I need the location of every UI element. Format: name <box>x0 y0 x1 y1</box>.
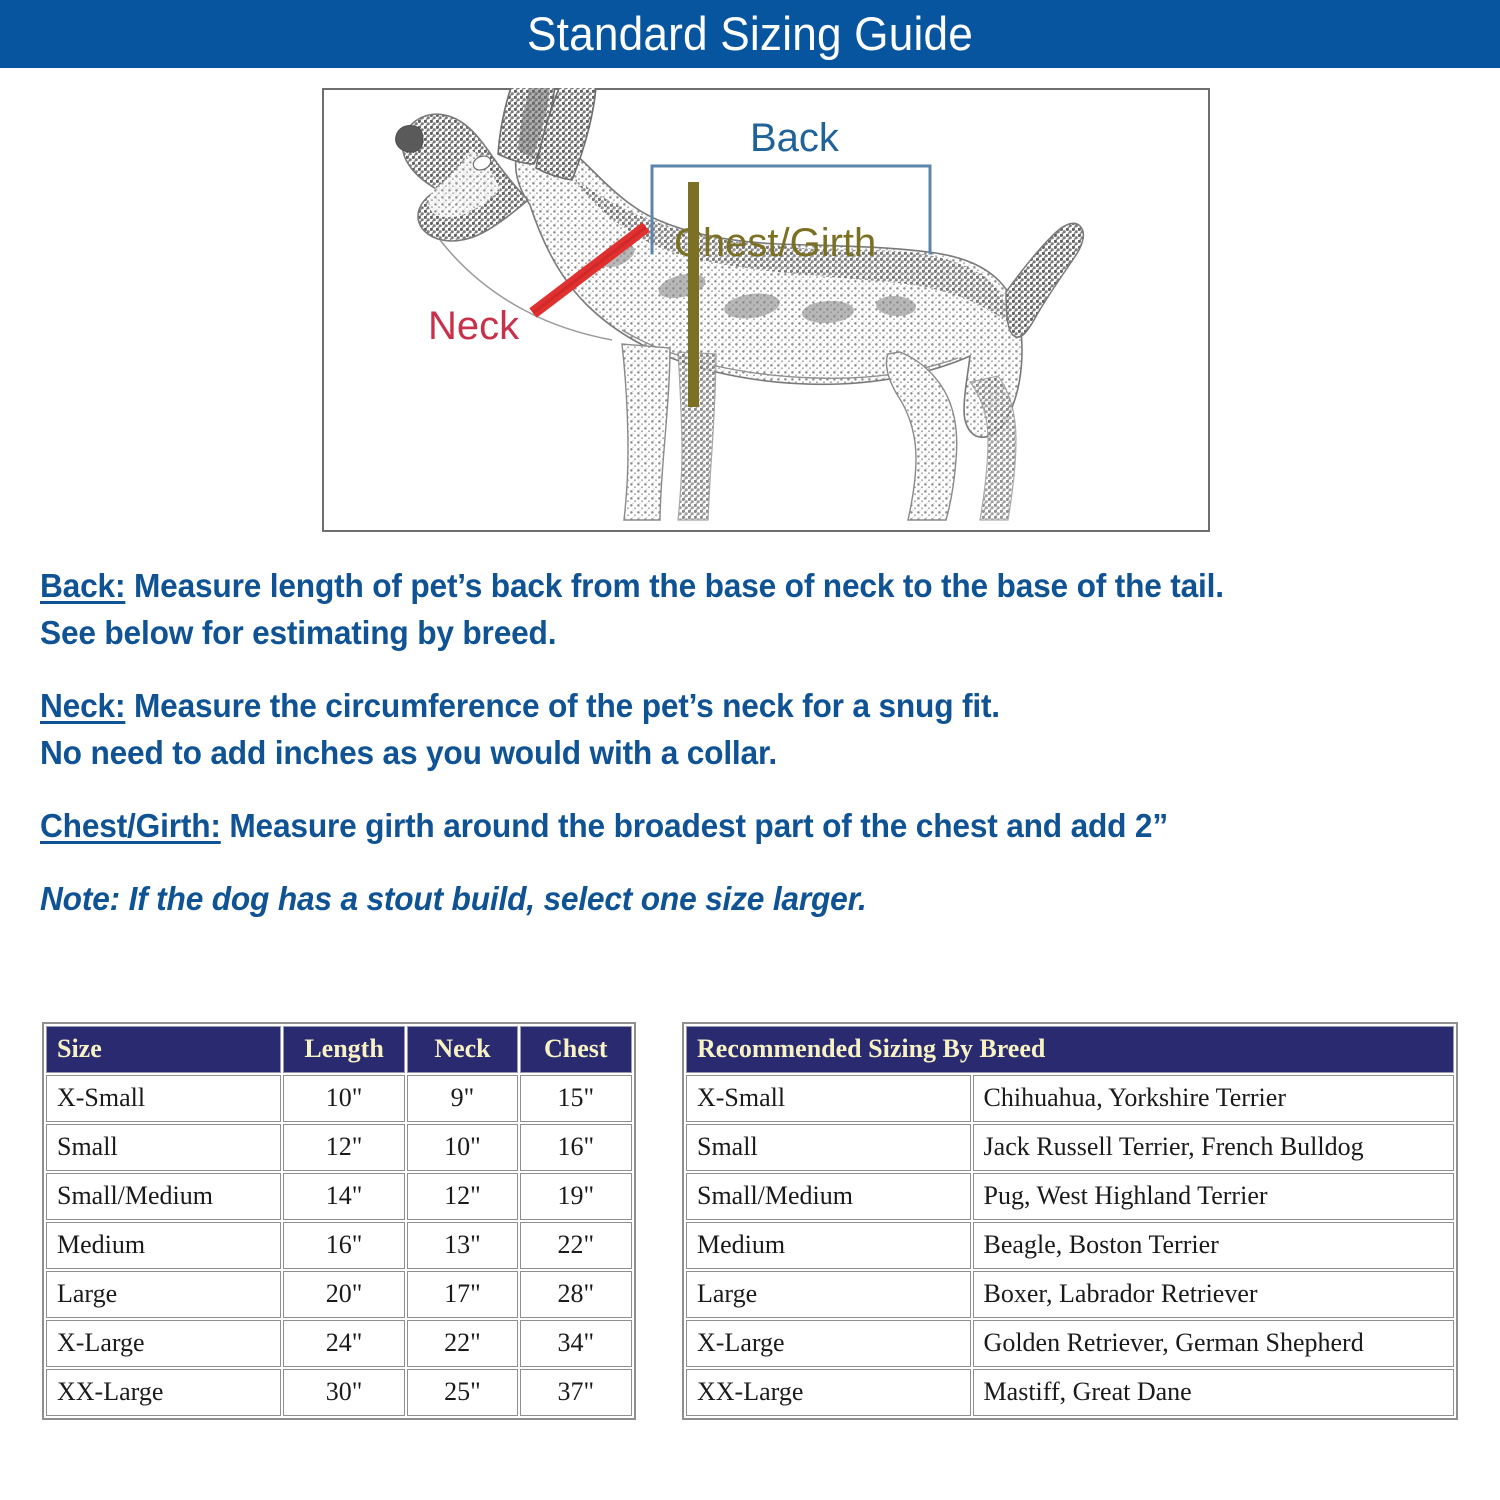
cell-size: X-Large <box>686 1320 971 1367</box>
table-row: Small/Medium Pug, West Highland Terrier <box>686 1173 1454 1220</box>
table-row: X-Large Golden Retriever, German Shepher… <box>686 1320 1454 1367</box>
cell-breed: Boxer, Labrador Retriever <box>973 1271 1454 1318</box>
cell-size: XX-Large <box>686 1369 971 1416</box>
measuring-instructions: Back: Measure length of pet’s back from … <box>40 562 1460 948</box>
cell-length: 10" <box>283 1075 406 1122</box>
cell-size: Large <box>686 1271 971 1318</box>
cell-size: Small <box>46 1124 281 1171</box>
cell-length: 24" <box>283 1320 406 1367</box>
cell-size: Small/Medium <box>686 1173 971 1220</box>
cell-length: 30" <box>283 1369 406 1416</box>
table-row: Small Jack Russell Terrier, French Bulld… <box>686 1124 1454 1171</box>
cell-size: Large <box>46 1271 281 1318</box>
table-row: X-Large 24" 22" 34" <box>46 1320 632 1367</box>
label-neck: Neck <box>428 306 519 346</box>
cell-breed: Beagle, Boston Terrier <box>973 1222 1454 1269</box>
column-header-chest: Chest <box>520 1026 632 1073</box>
instruction-chest-body: Measure girth around the broadest part o… <box>221 807 1168 844</box>
sizing-guide-page: Standard Sizing Guide <box>0 0 1500 1500</box>
cell-length: 20" <box>283 1271 406 1318</box>
table-row: Large 20" 17" 28" <box>46 1271 632 1318</box>
cell-size: Small/Medium <box>46 1173 281 1220</box>
cell-neck: 10" <box>407 1124 517 1171</box>
instruction-back-body: Measure length of pet’s back from the ba… <box>125 567 1224 604</box>
cell-chest: 22" <box>520 1222 632 1269</box>
instruction-neck-lead: Neck: <box>40 687 125 724</box>
cell-chest: 15" <box>520 1075 632 1122</box>
instruction-back: Back: Measure length of pet’s back from … <box>40 562 1403 656</box>
breed-table-title: Recommended Sizing By Breed <box>686 1026 1454 1073</box>
table-row: Medium 16" 13" 22" <box>46 1222 632 1269</box>
cell-neck: 9" <box>407 1075 517 1122</box>
cell-chest: 28" <box>520 1271 632 1318</box>
table-header-row: Recommended Sizing By Breed <box>686 1026 1454 1073</box>
table-row: Medium Beagle, Boston Terrier <box>686 1222 1454 1269</box>
cell-breed: Pug, West Highland Terrier <box>973 1173 1454 1220</box>
cell-breed: Jack Russell Terrier, French Bulldog <box>973 1124 1454 1171</box>
label-chest: Chest/Girth <box>674 223 876 263</box>
table-row: Small/Medium 14" 12" 19" <box>46 1173 632 1220</box>
cell-chest: 19" <box>520 1173 632 1220</box>
cell-neck: 17" <box>407 1271 517 1318</box>
cell-chest: 37" <box>520 1369 632 1416</box>
cell-neck: 12" <box>407 1173 517 1220</box>
cell-size: X-Small <box>686 1075 971 1122</box>
instruction-neck-body: Measure the circumference of the pet’s n… <box>125 687 1000 724</box>
cell-neck: 22" <box>407 1320 517 1367</box>
table-row: X-Small Chihuahua, Yorkshire Terrier <box>686 1075 1454 1122</box>
column-header-size: Size <box>46 1026 281 1073</box>
dog-measurement-diagram-icon <box>322 0 1210 532</box>
cell-size: XX-Large <box>46 1369 281 1416</box>
table-row: X-Small 10" 9" 15" <box>46 1075 632 1122</box>
table-header-row: Size Length Neck Chest <box>46 1026 632 1073</box>
cell-size: X-Small <box>46 1075 281 1122</box>
cell-neck: 13" <box>407 1222 517 1269</box>
instruction-chest: Chest/Girth: Measure girth around the br… <box>40 802 1403 849</box>
cell-length: 12" <box>283 1124 406 1171</box>
column-header-neck: Neck <box>407 1026 517 1073</box>
cell-size: Medium <box>46 1222 281 1269</box>
breed-sizing-table: Recommended Sizing By Breed X-Small Chih… <box>682 1022 1458 1420</box>
column-header-length: Length <box>283 1026 406 1073</box>
cell-neck: 25" <box>407 1369 517 1416</box>
sizing-note: Note: If the dog has a stout build, sele… <box>40 875 1403 922</box>
cell-size: Medium <box>686 1222 971 1269</box>
cell-length: 16" <box>283 1222 406 1269</box>
cell-size: Small <box>686 1124 971 1171</box>
cell-breed: Mastiff, Great Dane <box>973 1369 1454 1416</box>
cell-length: 14" <box>283 1173 406 1220</box>
table-row: XX-Large 30" 25" 37" <box>46 1369 632 1416</box>
instruction-back-lead: Back: <box>40 567 125 604</box>
label-back: Back <box>750 118 839 158</box>
cell-chest: 34" <box>520 1320 632 1367</box>
cell-breed: Golden Retriever, German Shepherd <box>973 1320 1454 1367</box>
instruction-back-line2: See below for estimating by breed. <box>40 614 556 651</box>
instruction-neck-line2: No need to add inches as you would with … <box>40 734 777 771</box>
table-row: Small 12" 10" 16" <box>46 1124 632 1171</box>
cell-chest: 16" <box>520 1124 632 1171</box>
dog-illustration-panel: Back Chest/Girth Neck <box>322 88 1210 532</box>
instruction-chest-lead: Chest/Girth: <box>40 807 221 844</box>
cell-breed: Chihuahua, Yorkshire Terrier <box>973 1075 1454 1122</box>
instruction-neck: Neck: Measure the circumference of the p… <box>40 682 1403 776</box>
cell-size: X-Large <box>46 1320 281 1367</box>
table-row: Large Boxer, Labrador Retriever <box>686 1271 1454 1318</box>
measurements-table: Size Length Neck Chest X-Small 10" 9" 15… <box>42 1022 636 1420</box>
table-row: XX-Large Mastiff, Great Dane <box>686 1369 1454 1416</box>
